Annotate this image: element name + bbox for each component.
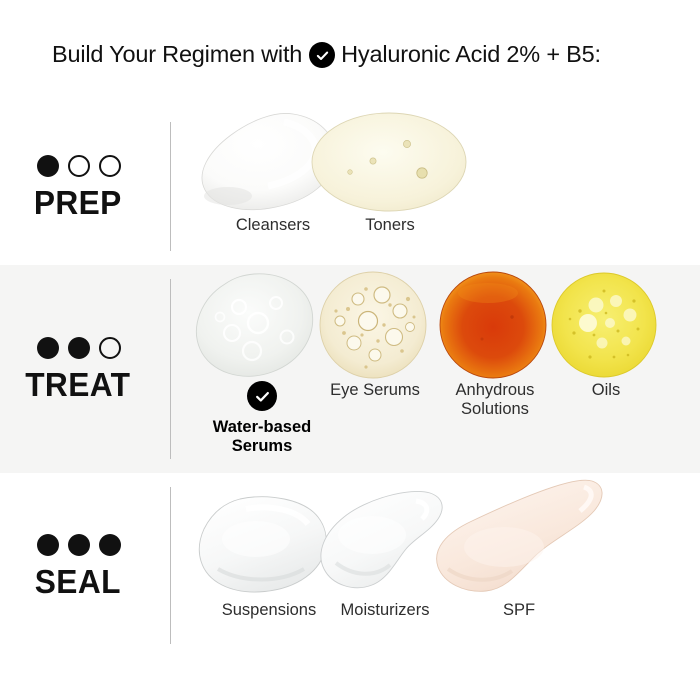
regimen-step-treat: TREAT — [0, 265, 700, 473]
product-toners[interactable]: Toners — [310, 110, 470, 235]
step-label-seal: SEAL — [0, 473, 170, 658]
step-progress-dots-prep — [35, 155, 121, 177]
progress-dot-filled — [37, 534, 59, 556]
progress-dot-filled — [37, 155, 59, 177]
progress-dot-filled — [37, 337, 59, 359]
product-spf[interactable]: SPF — [424, 477, 614, 620]
step-progress-dots-treat — [35, 337, 121, 359]
progress-dot-empty — [99, 337, 121, 359]
page-header: Build Your Regimen with Hyaluronic Acid … — [0, 0, 700, 108]
regimen-step-prep: PREP — [0, 108, 700, 265]
product-eye-serums[interactable]: Eye Serums — [310, 271, 440, 400]
page-title: Build Your Regimen with Hyaluronic Acid … — [52, 41, 601, 68]
progress-dot-filled — [68, 534, 90, 556]
toners-swatch — [310, 110, 470, 216]
anhydrous-solutions-swatch — [430, 271, 560, 381]
step-name-prep: PREP — [34, 186, 122, 219]
step-name-treat: TREAT — [25, 368, 130, 401]
product-label-eye-serums: Eye Serums — [330, 381, 420, 400]
product-label-oils: Oils — [592, 381, 620, 400]
progress-dot-filled — [99, 534, 121, 556]
step-name-seal: SEAL — [35, 565, 121, 598]
step-label-prep: PREP — [0, 108, 170, 265]
progress-dot-empty — [68, 155, 90, 177]
page-title-product: Hyaluronic Acid 2% + B5: — [341, 41, 601, 68]
product-label-anhydrous-solutions: Anhydrous Solutions — [456, 381, 535, 419]
page-title-prefix: Build Your Regimen with — [52, 41, 302, 68]
product-anhydrous-solutions[interactable]: Anhydrous Solutions — [430, 271, 560, 419]
spf-swatch — [424, 477, 614, 601]
eye-serums-swatch — [310, 271, 440, 381]
product-label-water-based-serums: Water-based Serums — [213, 418, 311, 456]
oils-swatch — [544, 271, 668, 381]
product-oils[interactable]: Oils — [544, 271, 668, 400]
progress-dot-filled — [68, 337, 90, 359]
regimen-step-seal: SEAL — [0, 473, 700, 658]
product-label-suspensions: Suspensions — [222, 601, 316, 620]
check-circle-icon — [247, 381, 277, 411]
product-label-spf: SPF — [503, 601, 535, 620]
step-progress-dots-seal — [35, 534, 121, 556]
check-circle-icon — [309, 42, 335, 68]
product-label-moisturizers: Moisturizers — [341, 601, 430, 620]
progress-dot-empty — [99, 155, 121, 177]
product-label-cleansers: Cleansers — [236, 216, 310, 235]
product-label-toners: Toners — [365, 216, 415, 235]
step-label-treat: TREAT — [0, 265, 170, 473]
